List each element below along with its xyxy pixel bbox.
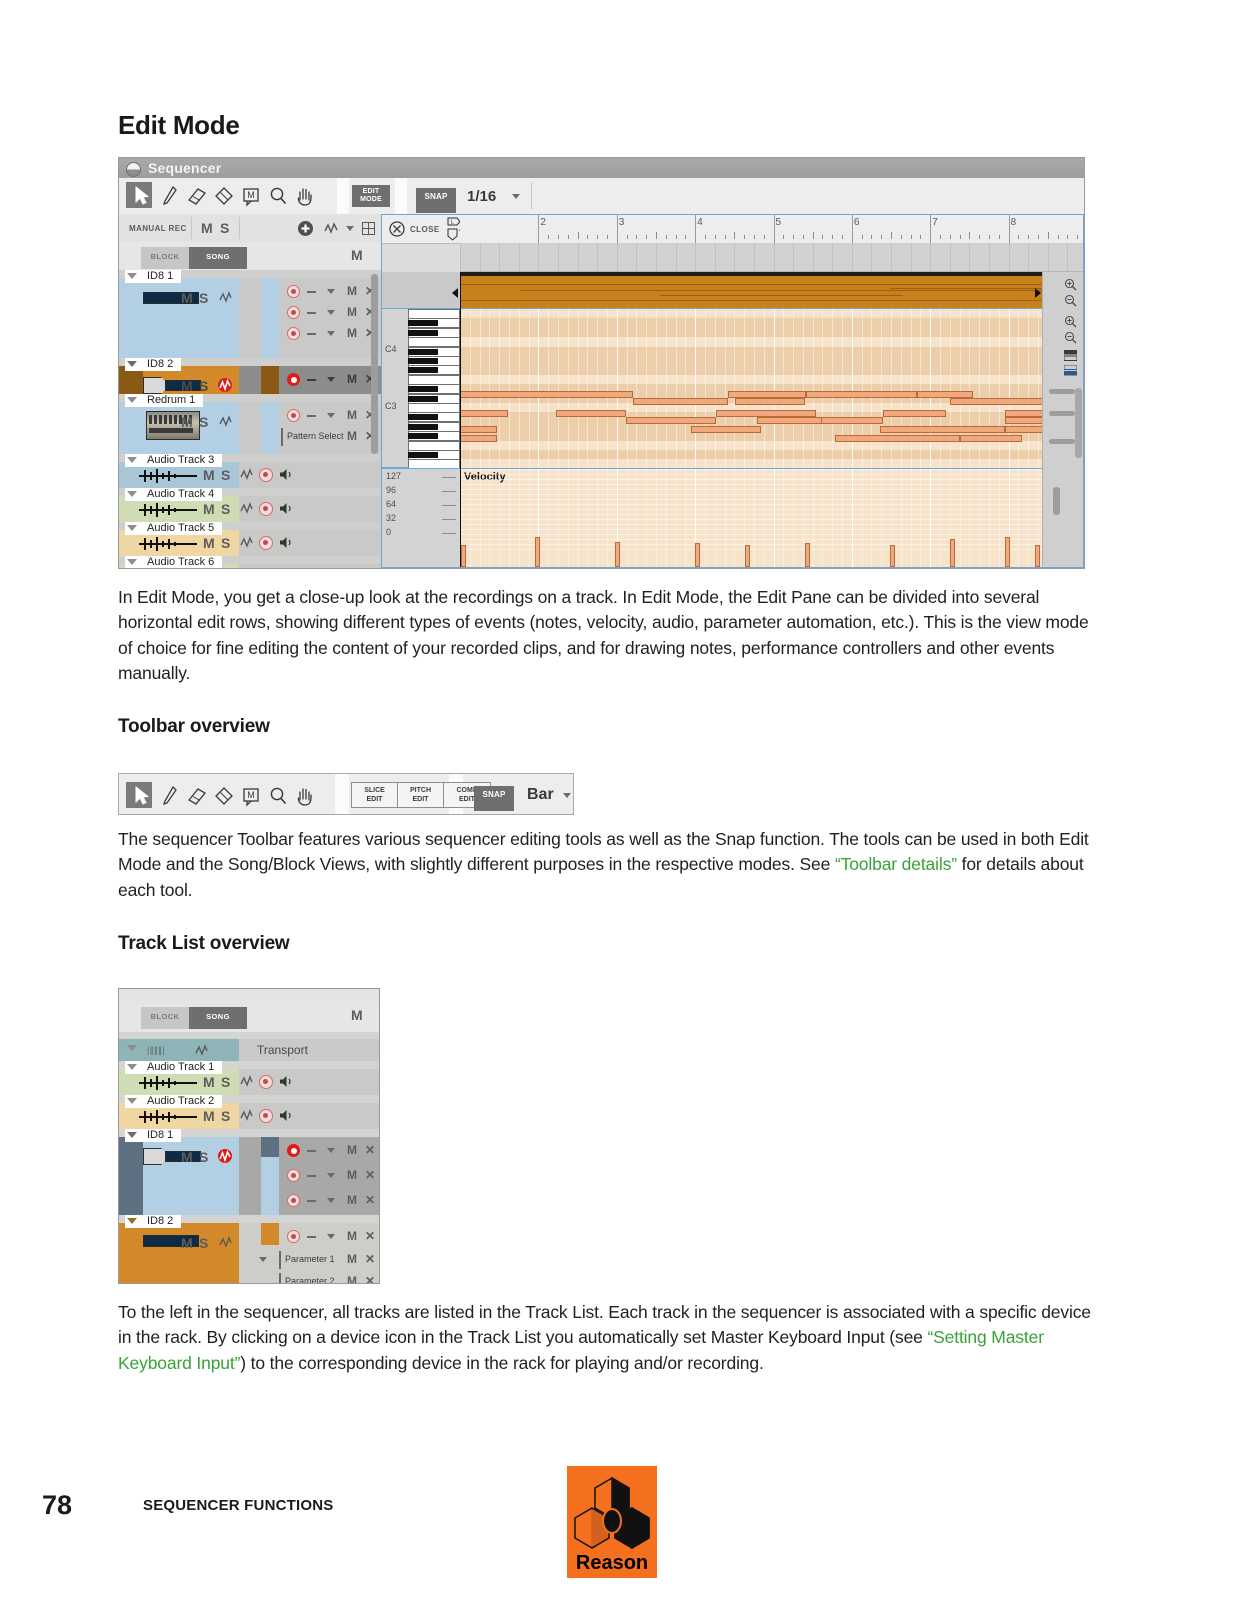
note-grid-line xyxy=(911,309,912,467)
mute-tool[interactable]: M xyxy=(240,184,262,208)
ruler-tick xyxy=(920,235,921,239)
note-lane-1[interactable]: M ✕ xyxy=(279,371,381,389)
velocity-grid-line xyxy=(960,469,961,567)
velocity-grid-line xyxy=(920,469,921,567)
velocity-grid-line xyxy=(832,469,833,567)
band-grid-line xyxy=(656,243,657,271)
track-fold-arrow-icon[interactable] xyxy=(127,273,137,279)
track-solo-button[interactable]: S xyxy=(221,1108,230,1124)
piano-black-key[interactable] xyxy=(408,424,438,430)
clip-handle-right-icon[interactable] xyxy=(1035,288,1041,298)
ruler-tick xyxy=(891,232,892,239)
master-track-button[interactable]: M xyxy=(351,247,363,263)
track-solo-button[interactable]: S xyxy=(199,378,208,394)
midi-note[interactable] xyxy=(460,391,633,398)
window-scrollbar[interactable] xyxy=(1075,388,1082,458)
zoom-out-icon[interactable] xyxy=(1064,294,1077,307)
track-mute-button[interactable]: M xyxy=(181,1149,193,1165)
razor-tool[interactable] xyxy=(212,184,234,208)
ruler-mark: 2 xyxy=(540,217,546,228)
parameter-lane-2[interactable]: Parameter 2 M ✕ xyxy=(257,1273,380,1284)
lane-mute[interactable]: M xyxy=(347,305,357,319)
track-mute-button[interactable]: M xyxy=(203,1074,215,1090)
hand-tool[interactable] xyxy=(294,184,316,208)
track-mute-button[interactable]: M xyxy=(203,501,215,517)
toolbar-screenshot: M SLICE EDIT PITCH EDIT COMP EDIT SNAP B… xyxy=(118,773,574,815)
magnify-tool[interactable] xyxy=(267,184,289,208)
midi-note[interactable] xyxy=(460,435,497,442)
lane-mute[interactable]: M xyxy=(347,284,357,298)
lane-mute[interactable]: M xyxy=(347,326,357,340)
lane-mute[interactable]: M xyxy=(347,1168,357,1182)
hscroll-handle-1[interactable] xyxy=(1049,389,1075,394)
song-view-button[interactable]: SONG xyxy=(189,1007,247,1029)
toolbar-separator xyxy=(531,183,532,209)
velocity-grid-line xyxy=(783,469,784,567)
velocity-grid-line xyxy=(871,469,872,567)
reason-logo: Reason xyxy=(567,1466,657,1578)
midi-note[interactable] xyxy=(716,410,816,417)
midi-note[interactable] xyxy=(728,391,806,398)
midi-note[interactable] xyxy=(917,391,973,398)
note-grid-line xyxy=(744,309,745,467)
add-track-icon[interactable] xyxy=(298,221,313,236)
waveform-icon[interactable] xyxy=(137,502,199,523)
midi-note[interactable] xyxy=(626,417,716,424)
midi-note[interactable] xyxy=(460,426,497,433)
midi-note[interactable] xyxy=(883,410,946,417)
track-mute-button[interactable]: M xyxy=(203,1108,215,1124)
note-grid-line xyxy=(979,309,980,467)
velocity-grid-line xyxy=(568,469,569,567)
automation-chevron-down-icon[interactable] xyxy=(346,226,354,231)
record-enable-icon[interactable] xyxy=(259,468,273,482)
note-grid-line xyxy=(1038,309,1039,467)
track-solo-button[interactable]: S xyxy=(221,467,230,483)
track-solo-button[interactable]: S xyxy=(221,501,230,517)
track-mute-button[interactable]: M xyxy=(181,378,193,394)
track-name-tab[interactable]: Audio Track 4 xyxy=(125,488,222,501)
track-fold-arrow-icon[interactable] xyxy=(127,491,137,497)
note-lane-1[interactable]: M ✕ xyxy=(279,407,381,425)
band-grid-line xyxy=(460,243,461,271)
note-grid-line xyxy=(636,309,637,467)
block-view-button[interactable]: BLOCK xyxy=(141,1007,189,1029)
block-view-button[interactable]: BLOCK xyxy=(141,247,189,269)
clip-row xyxy=(382,272,1083,308)
arrow-tool[interactable] xyxy=(130,784,152,808)
track-name-tab[interactable]: Audio Track 2 xyxy=(125,1095,222,1108)
record-enable-icon[interactable] xyxy=(259,1109,273,1123)
piano-black-key[interactable] xyxy=(408,320,438,326)
track-fold-arrow-icon[interactable] xyxy=(127,457,137,463)
track-automation-icon[interactable] xyxy=(195,1044,209,1059)
note-lane-3[interactable]: M ✕ xyxy=(279,1192,380,1210)
ruler-mark: 8 xyxy=(1011,217,1017,228)
band-grid-line xyxy=(832,243,833,271)
band-grid-line xyxy=(774,243,775,271)
ruler-bar-line xyxy=(774,215,775,243)
manual-rec-label[interactable]: MANUAL REC xyxy=(129,224,187,233)
track-automation-active-icon[interactable] xyxy=(218,378,232,392)
note-lane-1[interactable]: M ✕ xyxy=(279,1142,380,1160)
track-row-id8-2[interactable]: ID8 2 M S M ✕ Parameter 1 M ✕ xyxy=(119,1215,380,1284)
lane-close-icon[interactable]: ✕ xyxy=(365,1229,375,1243)
parameter-lane-1[interactable]: Parameter 1 M ✕ xyxy=(257,1251,380,1269)
ruler-bar-line xyxy=(695,215,696,243)
note-grid-line xyxy=(969,309,970,467)
pencil-tool[interactable] xyxy=(159,784,181,808)
track-solo-button[interactable]: S xyxy=(199,1149,208,1165)
ruler-mark: 4 xyxy=(697,217,703,228)
lane-height-icon[interactable] xyxy=(1064,363,1077,376)
lane-mute[interactable]: M xyxy=(347,1193,357,1207)
note-lane-2[interactable]: M ✕ xyxy=(279,304,381,322)
midi-note[interactable] xyxy=(806,391,917,398)
ruler-tick xyxy=(911,235,912,239)
band-grid-line xyxy=(578,243,579,271)
velocity-tick-label: 96 xyxy=(386,485,396,495)
note-grid-line xyxy=(499,309,500,467)
note-grid-line xyxy=(666,309,667,467)
note-grid-line xyxy=(930,309,931,467)
slice-edit-line2: EDIT xyxy=(367,796,383,803)
track-fold-arrow-icon[interactable] xyxy=(127,1045,137,1051)
razor-tool[interactable] xyxy=(212,784,234,808)
midi-note[interactable] xyxy=(691,426,761,433)
track-name: Audio Track 3 xyxy=(147,454,214,466)
velocity-grid[interactable] xyxy=(460,469,1043,567)
track-row-audio-2[interactable]: Audio Track 2 M S xyxy=(119,1095,380,1129)
piano-black-key[interactable] xyxy=(408,358,438,364)
lane-close-icon[interactable]: ✕ xyxy=(365,1193,375,1207)
midi-note[interactable] xyxy=(735,398,805,405)
monitor-icon[interactable] xyxy=(279,536,294,554)
piano-black-key[interactable] xyxy=(408,367,438,373)
vertical-zoom-out-icon[interactable] xyxy=(1064,331,1077,344)
waveform-icon[interactable] xyxy=(137,468,199,489)
velocity-grid-line xyxy=(480,469,481,567)
track-row-audio-3[interactable]: Audio Track 3 M S xyxy=(119,454,381,488)
midi-note[interactable] xyxy=(757,417,822,424)
velocity-grid-line xyxy=(734,469,735,567)
track-name: Audio Track 1 xyxy=(147,1061,214,1073)
heading-track-list-overview: Track List overview xyxy=(118,933,290,955)
midi-note[interactable] xyxy=(950,398,1048,405)
piano-keyboard[interactable]: C4C3 xyxy=(382,309,460,467)
automation-icon[interactable] xyxy=(324,221,340,238)
track-automation-icon[interactable] xyxy=(240,502,254,517)
track-row-audio-4[interactable]: Audio Track 4 M S xyxy=(119,488,381,522)
velocity-grid-line xyxy=(578,469,579,567)
velocity-bar[interactable] xyxy=(805,543,810,567)
pitch-edit-button[interactable]: PITCH EDIT xyxy=(398,783,444,807)
hscroll-handle-2[interactable] xyxy=(1049,411,1075,416)
svg-text:L: L xyxy=(451,220,454,226)
ruler-mark: 5 xyxy=(776,217,782,228)
record-enable-icon[interactable] xyxy=(259,1075,273,1089)
track-mute-button[interactable]: M xyxy=(203,535,215,551)
piano-black-key[interactable] xyxy=(408,330,438,336)
velocity-bar[interactable] xyxy=(1035,545,1040,567)
master-mute-button[interactable]: M xyxy=(201,220,213,236)
velocity-bar[interactable] xyxy=(695,543,700,567)
velocity-bar[interactable] xyxy=(1005,537,1010,567)
track-fold-arrow-icon[interactable] xyxy=(127,1064,137,1070)
velocity-grid-line xyxy=(529,469,530,567)
monitor-icon[interactable] xyxy=(279,1075,294,1093)
velocity-grid-line xyxy=(509,469,510,567)
band-grid-line xyxy=(930,243,931,271)
minimize-icon[interactable] xyxy=(126,162,141,177)
lane-mute[interactable]: M xyxy=(347,1143,357,1157)
waveform-icon[interactable] xyxy=(137,1075,199,1096)
lane-mute[interactable]: M xyxy=(347,1252,357,1266)
note-grid-line xyxy=(774,309,775,467)
track-row-id8-2[interactable]: ID8 2 M S M ✕ xyxy=(119,358,381,394)
track-row-transport[interactable]: | || || || | Transport xyxy=(119,1039,380,1061)
lane-close-icon[interactable]: ✕ xyxy=(365,1274,375,1284)
track-row-audio-5[interactable]: Audio Track 5 M S xyxy=(119,522,381,556)
ruler-tick xyxy=(813,232,814,239)
lane-mute[interactable]: M xyxy=(347,408,357,422)
page-number: 78 xyxy=(42,1490,72,1521)
hscroll-handle-3[interactable] xyxy=(1049,439,1075,444)
note-lane-1[interactable]: M ✕ xyxy=(279,1228,380,1246)
piano-black-key[interactable] xyxy=(408,349,438,355)
snap-chevron-down-icon[interactable] xyxy=(512,194,520,199)
playhead[interactable] xyxy=(460,272,461,567)
track-automation-icon[interactable] xyxy=(219,291,233,306)
note-grid-line xyxy=(646,309,647,467)
track-name-tab[interactable]: Audio Track 1 xyxy=(125,1061,222,1074)
track-name-tab[interactable]: Audio Track 3 xyxy=(125,454,222,467)
track-solo-button[interactable]: S xyxy=(199,290,208,306)
waveform-icon[interactable] xyxy=(137,1109,199,1130)
velocity-grid-line xyxy=(587,469,588,567)
piano-black-key[interactable] xyxy=(408,414,438,420)
track-mute-button[interactable]: M xyxy=(203,467,215,483)
lane-close-icon[interactable]: ✕ xyxy=(365,1252,375,1266)
ruler-tick xyxy=(656,232,657,239)
arrow-tool[interactable] xyxy=(130,184,152,208)
snap-value[interactable]: Bar xyxy=(527,786,554,804)
velocity-tick-label: 0 xyxy=(386,527,391,537)
track-automation-icon[interactable] xyxy=(240,536,254,551)
track-name-tab[interactable]: Audio Track 6 xyxy=(125,556,222,568)
piano-black-key[interactable] xyxy=(408,433,438,439)
grid-icon[interactable] xyxy=(362,222,375,240)
velocity-grid-line xyxy=(979,469,980,567)
note-grid-line xyxy=(1009,309,1010,467)
paragraph-tracklist: To the left in the sequencer, all tracks… xyxy=(118,1300,1103,1376)
fit-zoom-icon[interactable] xyxy=(1064,348,1077,361)
velocity-grid-line xyxy=(607,469,608,567)
track-solo-button[interactable]: S xyxy=(221,1074,230,1090)
vertical-zoom-in-icon[interactable] xyxy=(1064,315,1077,328)
velocity-bar[interactable] xyxy=(535,537,540,567)
track-fold-arrow-icon[interactable] xyxy=(127,361,137,367)
slice-edit-button[interactable]: SLICE EDIT xyxy=(352,783,398,807)
velocity-bar[interactable] xyxy=(950,539,955,567)
velocity-grid-line xyxy=(754,469,755,567)
track-solo-button[interactable]: S xyxy=(221,535,230,551)
pencil-tool[interactable] xyxy=(159,184,181,208)
velocity-tick xyxy=(442,477,456,478)
ruler-tick xyxy=(666,235,667,239)
magnify-tool[interactable] xyxy=(267,784,289,808)
track-automation-icon[interactable] xyxy=(219,1236,233,1251)
snap-value[interactable]: 1/16 xyxy=(467,188,496,205)
velocity-bar[interactable] xyxy=(890,545,895,567)
ruler-tick xyxy=(764,235,765,239)
midi-note[interactable] xyxy=(633,398,728,405)
track-solo-button[interactable]: S xyxy=(199,1235,208,1251)
lane-mute[interactable]: M xyxy=(347,1274,357,1284)
ruler-tick xyxy=(725,235,726,239)
note-lane-3[interactable]: M ✕ xyxy=(279,325,381,343)
tracklist-spacer xyxy=(119,1032,379,1039)
note-grid-line xyxy=(734,309,735,467)
velocity-tick xyxy=(442,533,456,534)
waveform-icon[interactable] xyxy=(137,536,199,557)
track-row-id8-1[interactable]: ID8 1 M S M ✕ M ✕ xyxy=(119,1129,380,1215)
close-icon[interactable] xyxy=(389,221,405,242)
track-fold-arrow-icon[interactable] xyxy=(127,1132,137,1138)
velocity-grid-line xyxy=(676,469,677,567)
ruler-tick xyxy=(1067,235,1068,239)
close-label[interactable]: CLOSE xyxy=(410,225,440,234)
snap-chevron-down-icon[interactable] xyxy=(563,793,571,798)
ruler-tick xyxy=(578,232,579,239)
track-name-tab[interactable]: Audio Track 5 xyxy=(125,522,222,535)
midi-note[interactable] xyxy=(556,410,626,417)
midi-note[interactable] xyxy=(960,435,1022,442)
mute-tool[interactable]: M xyxy=(240,784,262,808)
track-row-id8-1[interactable]: ID8 1 M S M ✕ xyxy=(119,270,381,358)
track-mute-button[interactable]: M xyxy=(181,290,193,306)
velocity-grid-line xyxy=(499,469,500,567)
track-mute-button[interactable]: M xyxy=(181,1235,193,1251)
track-fold-arrow-icon[interactable] xyxy=(127,1098,137,1104)
monitor-icon[interactable] xyxy=(279,1109,294,1127)
velocity-grid-line xyxy=(725,469,726,567)
ruler-tick xyxy=(881,235,882,239)
track-fold-arrow-icon[interactable] xyxy=(127,1218,137,1224)
note-lane-2[interactable]: M ✕ xyxy=(279,1167,380,1185)
velocity-grid-line xyxy=(930,469,931,567)
master-solo-button[interactable]: S xyxy=(220,220,229,236)
track-automation-icon[interactable] xyxy=(240,1109,254,1124)
eraser-tool[interactable] xyxy=(185,184,207,208)
audio-clip[interactable] xyxy=(460,272,1043,308)
eraser-tool[interactable] xyxy=(185,784,207,808)
edit-mode-button[interactable]: EDIT MODE xyxy=(352,185,390,207)
track-row-redrum-1[interactable]: Redrum 1 M S xyxy=(119,394,381,454)
lane-mute[interactable]: M xyxy=(347,1229,357,1243)
vscroll-handle[interactable] xyxy=(1053,487,1060,515)
piano-black-key[interactable] xyxy=(408,452,438,458)
record-enable-icon[interactable] xyxy=(259,502,273,516)
band-grid-line xyxy=(538,243,539,271)
ruler-tick xyxy=(1077,235,1078,239)
velocity-bar[interactable] xyxy=(745,545,750,567)
heading-toolbar-overview: Toolbar overview xyxy=(118,716,270,738)
tracklist-scrollbar[interactable] xyxy=(371,274,378,454)
track-automation-icon[interactable] xyxy=(219,415,233,430)
midi-note[interactable] xyxy=(816,417,883,424)
track-row-audio-1[interactable]: Audio Track 1 M S xyxy=(119,1061,380,1095)
snap-button[interactable]: SNAP xyxy=(474,786,514,811)
track-solo-button[interactable]: S xyxy=(199,414,208,430)
track-mute-button[interactable]: M xyxy=(181,414,193,430)
track-automation-active-icon[interactable] xyxy=(218,1149,232,1163)
hand-tool[interactable] xyxy=(294,784,316,808)
parameter-lane-1[interactable]: Pattern Select M ✕ xyxy=(279,428,381,446)
ruler-tick xyxy=(587,235,588,239)
lane-mute[interactable]: M xyxy=(347,372,357,386)
velocity-bar[interactable] xyxy=(461,545,466,567)
track-fold-arrow-icon[interactable] xyxy=(127,525,137,531)
track-fold-arrow-icon[interactable] xyxy=(127,559,137,565)
sequencer-titlebar: Sequencer xyxy=(119,158,1084,178)
ruler-tick xyxy=(871,235,872,239)
record-enable-icon[interactable] xyxy=(259,536,273,550)
note-grid-line xyxy=(852,309,853,467)
velocity-bar[interactable] xyxy=(615,542,620,567)
midi-note[interactable] xyxy=(835,435,960,442)
note-lane-1[interactable]: M ✕ xyxy=(279,283,381,301)
master-track-button[interactable]: M xyxy=(351,1007,363,1023)
zoom-in-icon[interactable] xyxy=(1064,278,1077,291)
ruler-tick xyxy=(842,235,843,239)
snap-button[interactable]: SNAP xyxy=(416,188,456,213)
lane-close-icon[interactable]: ✕ xyxy=(365,1143,375,1157)
lane-mute[interactable]: M xyxy=(347,429,357,443)
note-grid[interactable] xyxy=(460,309,1043,467)
toolbar-details-link[interactable]: “Toolbar details” xyxy=(835,854,957,874)
track-fold-arrow-icon[interactable] xyxy=(127,397,137,403)
midi-note[interactable] xyxy=(880,426,1005,433)
edit-pane: CLOSE L4 23456789 xyxy=(381,214,1084,568)
lane-close-icon[interactable]: ✕ xyxy=(365,1168,375,1182)
piano-key-label: C3 xyxy=(385,401,397,411)
note-grid-line xyxy=(989,309,990,467)
note-grid-line xyxy=(891,309,892,467)
ruler-tick xyxy=(715,235,716,239)
clip-handle-left-icon[interactable] xyxy=(452,288,458,298)
band-grid-line xyxy=(813,243,814,271)
ruler-tick xyxy=(832,235,833,239)
piano-black-key[interactable] xyxy=(408,396,438,402)
track-row-audio-6[interactable]: Audio Track 6 xyxy=(119,556,381,568)
song-view-button[interactable]: SONG xyxy=(189,247,247,269)
ruler-bar-line xyxy=(852,215,853,243)
track-automation-icon[interactable] xyxy=(240,468,254,483)
band-grid-line xyxy=(715,243,716,271)
pitch-edit-line1: PITCH xyxy=(410,787,431,794)
note-grid-line xyxy=(578,309,579,467)
note-grid-line xyxy=(617,309,618,467)
bar-ruler[interactable]: 23456789 xyxy=(460,215,1083,243)
track-automation-icon[interactable] xyxy=(240,1075,254,1090)
monitor-icon[interactable] xyxy=(279,502,294,520)
midi-note[interactable] xyxy=(460,410,508,417)
velocity-grid-line xyxy=(685,469,686,567)
monitor-icon[interactable] xyxy=(279,468,294,486)
piano-black-key[interactable] xyxy=(408,386,438,392)
note-grid-line xyxy=(568,309,569,467)
